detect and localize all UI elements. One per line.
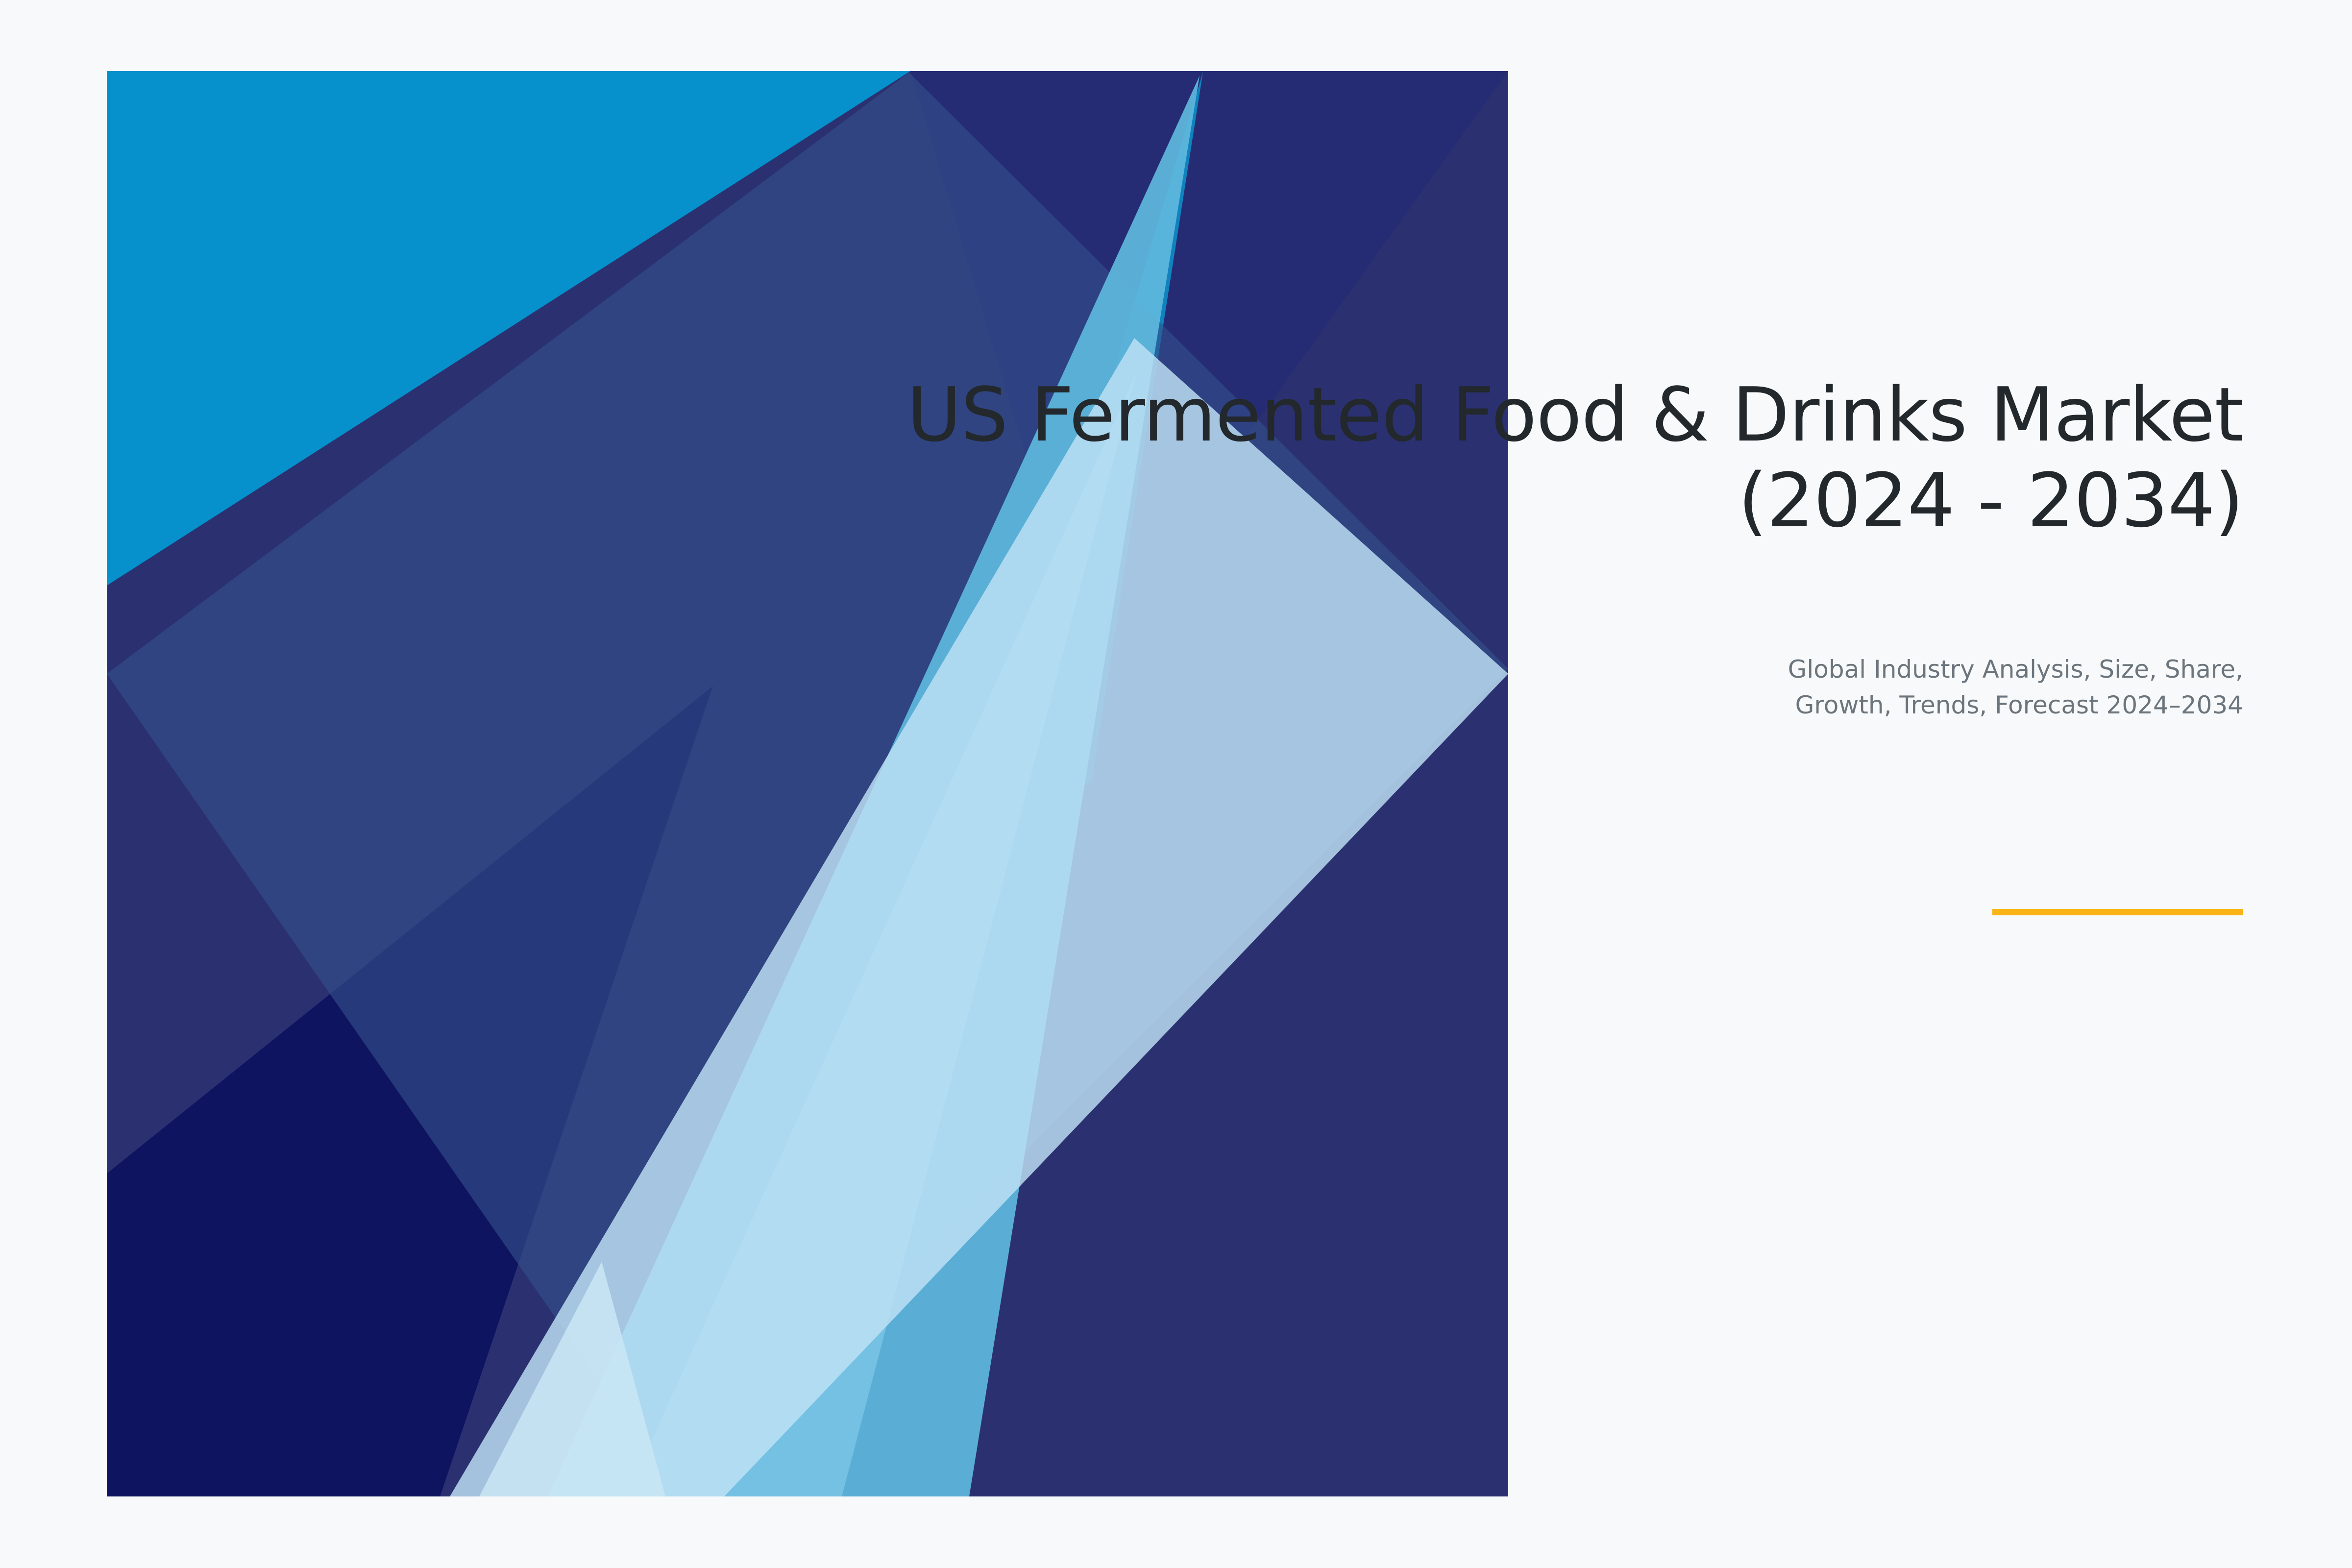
- page-subtitle: Global Industry Analysis, Size, Share, G…: [1263, 652, 2243, 723]
- title-accent-underline: [1992, 909, 2243, 915]
- title-block: US Fermented Food & Drinks Market (2024 …: [773, 372, 2243, 544]
- abstract-polygons-svg: [107, 71, 1508, 1496]
- page-title: US Fermented Food & Drinks Market (2024 …: [773, 372, 2243, 544]
- report-cover-page: US Fermented Food & Drinks Market (2024 …: [0, 0, 2352, 1568]
- cover-artwork: [107, 71, 1508, 1496]
